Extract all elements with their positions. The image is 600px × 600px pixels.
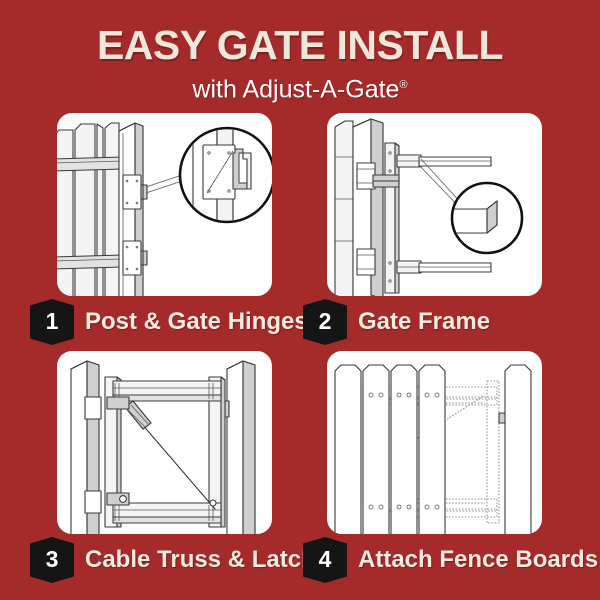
corner-brackets: [107, 397, 216, 506]
magnified-hinge-detail: [180, 121, 272, 233]
illustration-panel-step-1: [57, 113, 272, 296]
right-post: [227, 361, 255, 534]
attach-fence-boards-illustration: [327, 351, 542, 534]
step-number-4: 4: [319, 548, 332, 571]
step-label-4: Attach Fence Boards: [358, 546, 598, 574]
corner-pivot-bracket: [373, 175, 399, 187]
step-label-3: Cable Truss & Latch: [85, 546, 316, 574]
step-badge-4: 4: [303, 537, 347, 583]
page-subtitle: with Adjust-A-Gate®: [0, 70, 600, 104]
poster-root: EASY GATE INSTALL with Adjust-A-Gate®: [0, 0, 600, 600]
magnified-tube-end-detail: [445, 183, 522, 253]
illustration-panel-step-3: [57, 351, 272, 534]
truss-cable: [141, 423, 215, 509]
step-number-2: 2: [319, 310, 332, 333]
illustration-panel-step-4: [327, 351, 542, 534]
step-caption-2: 2 Gate Frame: [303, 301, 490, 343]
step-badge-2: 2: [303, 299, 347, 345]
registered-trademark-icon: ®: [399, 79, 407, 91]
gate-rail-bottom: [113, 503, 221, 523]
fence-pickets-left: [335, 121, 353, 296]
page-title: EASY GATE INSTALL: [0, 22, 600, 68]
step-caption-1: 1 Post & Gate Hinges: [30, 301, 308, 343]
step-caption-3: 3 Cable Truss & Latch: [30, 539, 316, 581]
fence-pickets: [57, 123, 119, 296]
step-badge-1: 1: [30, 299, 74, 345]
step-caption-4: 4 Attach Fence Boards: [303, 539, 598, 581]
gate-frame-illustration: [327, 113, 542, 296]
fence-hinge-illustration: [57, 113, 272, 296]
header: EASY GATE INSTALL with Adjust-A-Gate®: [0, 22, 600, 104]
subtitle-text: with Adjust-A-Gate: [192, 75, 399, 103]
step-number-1: 1: [46, 310, 59, 333]
cable-truss-illustration: [57, 351, 272, 534]
step-label-2: Gate Frame: [358, 308, 490, 336]
telescoping-rail-lower: [397, 261, 491, 273]
step-number-3: 3: [46, 548, 59, 571]
step-badge-3: 3: [30, 537, 74, 583]
step-label-1: Post & Gate Hinges: [85, 308, 308, 336]
telescoping-rail-upper: [397, 155, 491, 167]
illustration-panel-step-2: [327, 113, 542, 296]
fence-boards: [335, 365, 531, 534]
